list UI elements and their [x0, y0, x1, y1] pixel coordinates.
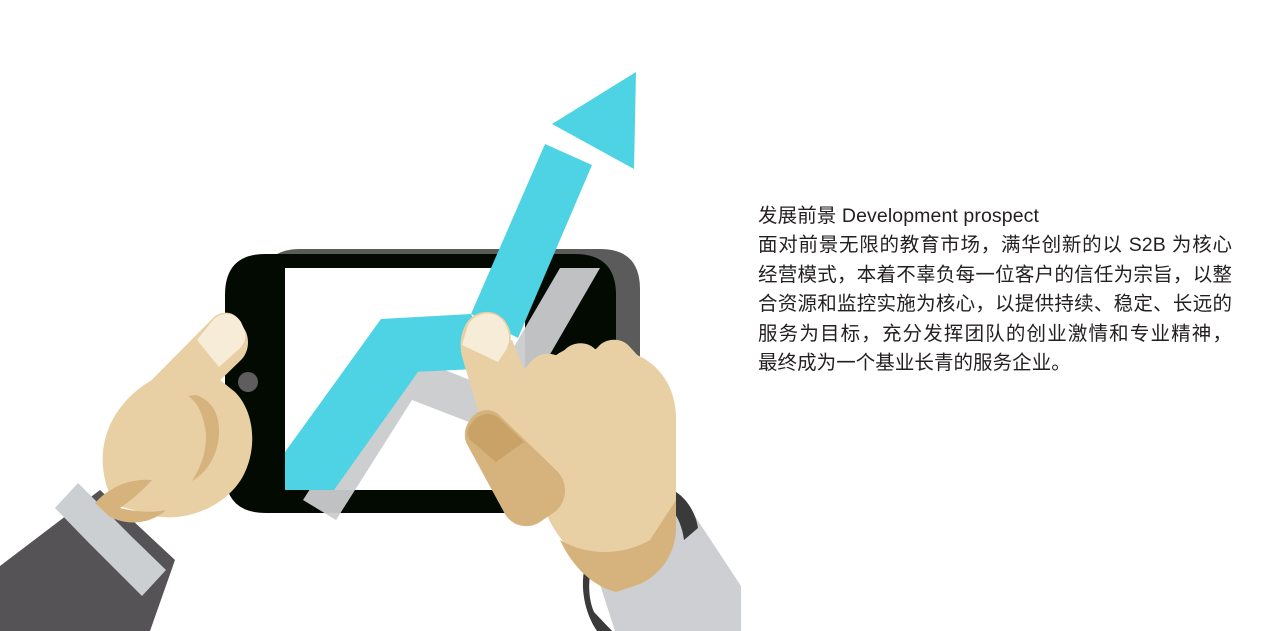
text-block: 发展前景 Development prospect 面对前景无限的教育市场，满华…: [758, 202, 1232, 379]
prospect-description: 面对前景无限的教育市场，满华创新的以 S2B 为核心经营模式，本着不辜负每一位客…: [758, 231, 1232, 379]
page-title: 发展前景 Development prospect: [758, 202, 1232, 231]
illustration-hands-tablet-growth-arrow: [0, 0, 760, 631]
slide-root: 发展前景 Development prospect 面对前景无限的教育市场，满华…: [0, 0, 1278, 631]
right-hand-group: [461, 312, 741, 631]
left-hand-group: [0, 313, 252, 631]
tablet-home-button[interactable]: [238, 372, 258, 392]
illustration-svg: [0, 0, 760, 631]
